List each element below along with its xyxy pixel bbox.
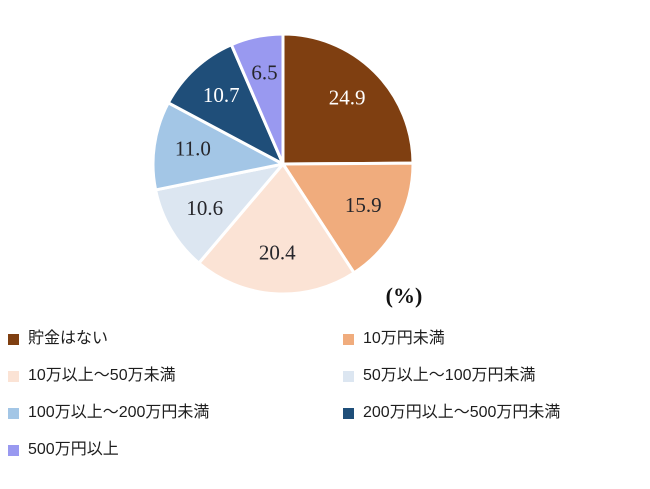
legend-item-label: 10万円未満: [363, 331, 445, 347]
pie-slice-value-label: 20.4: [259, 241, 296, 265]
legend-color-swatch: [8, 408, 19, 419]
legend-item-label: 500万円以上: [28, 442, 119, 458]
percent-unit-caption: (%): [362, 283, 446, 309]
legend-color-swatch: [8, 334, 19, 345]
pie-chart-svg: 24.915.920.410.611.010.76.5: [0, 0, 650, 320]
legend-item-label: 貯金はない: [28, 331, 108, 347]
pie-slice-value-label: 15.9: [345, 193, 382, 217]
legend-color-swatch: [343, 334, 354, 345]
pie-slice-value-label: 6.5: [251, 61, 277, 85]
pie-slice-value-label: 11.0: [175, 137, 211, 161]
legend-item-label: 10万以上～50万未満: [28, 368, 176, 384]
legend-item[interactable]: 貯金はない: [8, 326, 108, 352]
legend-item[interactable]: 100万以上～200万円未満: [8, 400, 209, 426]
legend-item-label: 100万以上～200万円未満: [28, 405, 209, 421]
legend-color-swatch: [343, 408, 354, 419]
legend-item[interactable]: 200万円以上～500万円未満: [343, 400, 560, 426]
legend-item-label: 200万円以上～500万円未満: [363, 405, 560, 421]
legend-color-swatch: [8, 371, 19, 382]
legend-item[interactable]: 10万円未満: [343, 326, 445, 352]
pie-slice-value-label: 24.9: [329, 85, 366, 109]
pie-slice-value-label: 10.6: [186, 196, 223, 220]
pie-chart-area: 24.915.920.410.611.010.76.5: [0, 0, 650, 320]
legend-color-swatch: [343, 371, 354, 382]
legend-item[interactable]: 10万以上～50万未満: [8, 363, 176, 389]
legend-item-label: 50万以上～100万円未満: [363, 368, 536, 384]
legend-item[interactable]: 500万円以上: [8, 437, 119, 463]
pie-slice-value-label: 10.7: [203, 83, 240, 107]
legend-item[interactable]: 50万以上～100万円未満: [343, 363, 536, 389]
chart-legend: 貯金はない10万円未満10万以上～50万未満50万以上～100万円未満100万以…: [0, 322, 650, 489]
legend-color-swatch: [8, 445, 19, 456]
